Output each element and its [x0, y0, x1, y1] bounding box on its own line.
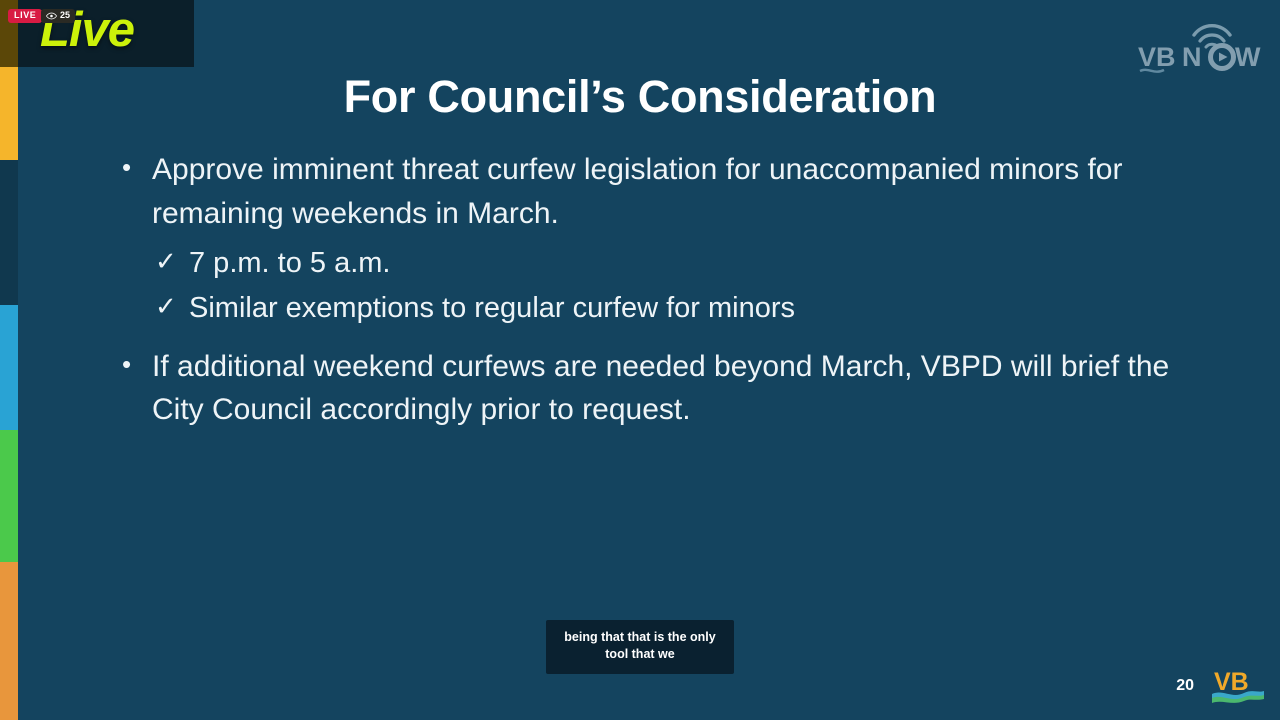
vb-now-watermark: VB N W — [1134, 18, 1262, 74]
checkmark-icon: ✓ — [155, 241, 189, 286]
viewer-count-chip: 25 — [41, 9, 75, 23]
rail-segment-gold — [0, 62, 18, 160]
live-stream-banner: Live LIVE 25 — [0, 0, 194, 67]
bullet-text: If additional weekend curfews are needed… — [152, 345, 1170, 432]
bullet-text: Approve imminent threat curfew legislati… — [152, 148, 1170, 235]
vb-logo-letters: VB — [1214, 668, 1249, 696]
sub-bullet-text: 7 p.m. to 5 a.m. — [189, 241, 1170, 286]
rail-segment-green — [0, 430, 18, 562]
watermark-w-text: W — [1235, 42, 1261, 72]
video-player-stage: Live LIVE 25 VB N W For Council’s Consi — [0, 0, 1280, 720]
slide-number: 20 — [1176, 677, 1194, 695]
rail-segment-orange — [0, 562, 18, 720]
sub-bullet-item: ✓ Similar exemptions to regular curfew f… — [100, 286, 1170, 331]
bullet-sublist: ✓ 7 p.m. to 5 a.m. ✓ Similar exemptions … — [100, 241, 1170, 331]
play-triangle-icon — [1219, 53, 1228, 62]
sub-bullet-text: Similar exemptions to regular curfew for… — [189, 286, 1170, 331]
page-title: For Council’s Consideration — [0, 72, 1280, 122]
bullet-marker-dot: • — [100, 345, 152, 432]
watermark-now-text: N — [1182, 42, 1202, 72]
bullet-marker-dot: • — [100, 148, 152, 235]
closed-caption-text: being that that is the only tool that we — [556, 629, 724, 664]
sub-bullet-item: ✓ 7 p.m. to 5 a.m. — [100, 241, 1170, 286]
rail-segment-navy — [0, 160, 18, 305]
left-color-rail — [0, 0, 18, 720]
eye-icon — [46, 12, 57, 20]
watermark-vb-text: VB — [1138, 42, 1176, 72]
rail-segment-blue — [0, 305, 18, 430]
checkmark-icon: ✓ — [155, 286, 189, 331]
bullet-item-primary: • Approve imminent threat curfew legisla… — [100, 148, 1170, 235]
bullet-item-primary: • If additional weekend curfews are need… — [100, 345, 1170, 432]
viewer-count-value: 25 — [60, 11, 70, 20]
live-status-badge: LIVE — [8, 9, 42, 23]
vb-city-logo: VB — [1210, 664, 1266, 704]
closed-caption-box: being that that is the only tool that we — [546, 620, 734, 674]
slide-bullet-list: • Approve imminent threat curfew legisla… — [100, 148, 1170, 434]
